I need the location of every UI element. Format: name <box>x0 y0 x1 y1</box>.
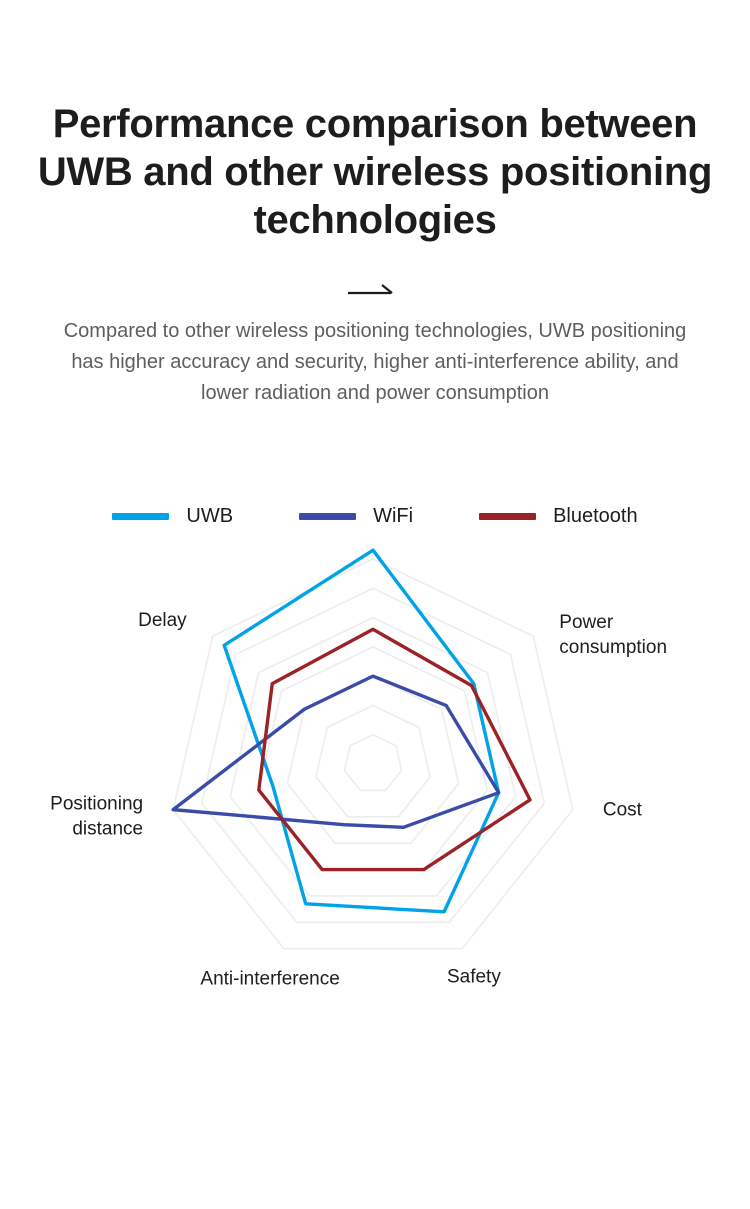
radar-grid-ring <box>202 588 545 922</box>
page-title: Performance comparison between UWB and o… <box>0 100 750 244</box>
line-swatch-icon <box>299 513 356 520</box>
radar-axis-label: Delay <box>138 610 187 631</box>
legend-label: WiFi <box>373 505 413 528</box>
radar-grid-ring <box>230 618 516 896</box>
line-swatch-icon <box>479 513 536 520</box>
radar-axis-label: Safety <box>447 967 501 988</box>
radar-axis-label: Cost <box>603 800 643 821</box>
radar-series-group <box>173 550 530 912</box>
chart-legend: UWB WiFi Bluetooth <box>0 505 750 528</box>
page-subtitle: Compared to other wireless positioning t… <box>0 316 750 409</box>
legend-label: UWB <box>186 505 233 528</box>
arrow-divider-icon <box>345 278 405 300</box>
radar-grid-ring <box>316 705 430 816</box>
radar-axis-label: Positioningdistance <box>50 794 143 840</box>
radar-chart: AccuracyPowerconsumptionCostSafetyAnti-i… <box>0 546 750 1106</box>
radar-grid-ring <box>344 735 401 791</box>
radar-chart-svg: AccuracyPowerconsumptionCostSafetyAnti-i… <box>0 546 750 1106</box>
legend-item-bluetooth[interactable]: Bluetooth <box>479 505 638 528</box>
radar-series-wifi[interactable] <box>173 676 498 827</box>
radar-grid <box>173 559 573 949</box>
legend-item-uwb[interactable]: UWB <box>112 505 233 528</box>
radar-axis-label: Powerconsumption <box>559 612 667 658</box>
legend-item-wifi[interactable]: WiFi <box>299 505 413 528</box>
radar-axis-label: Anti-interference <box>200 969 339 990</box>
legend-label: Bluetooth <box>553 505 638 528</box>
line-swatch-icon <box>112 513 169 520</box>
radar-axis-labels: AccuracyPowerconsumptionCostSafetyAnti-i… <box>50 546 667 990</box>
page-root: Performance comparison between UWB and o… <box>0 0 750 1209</box>
